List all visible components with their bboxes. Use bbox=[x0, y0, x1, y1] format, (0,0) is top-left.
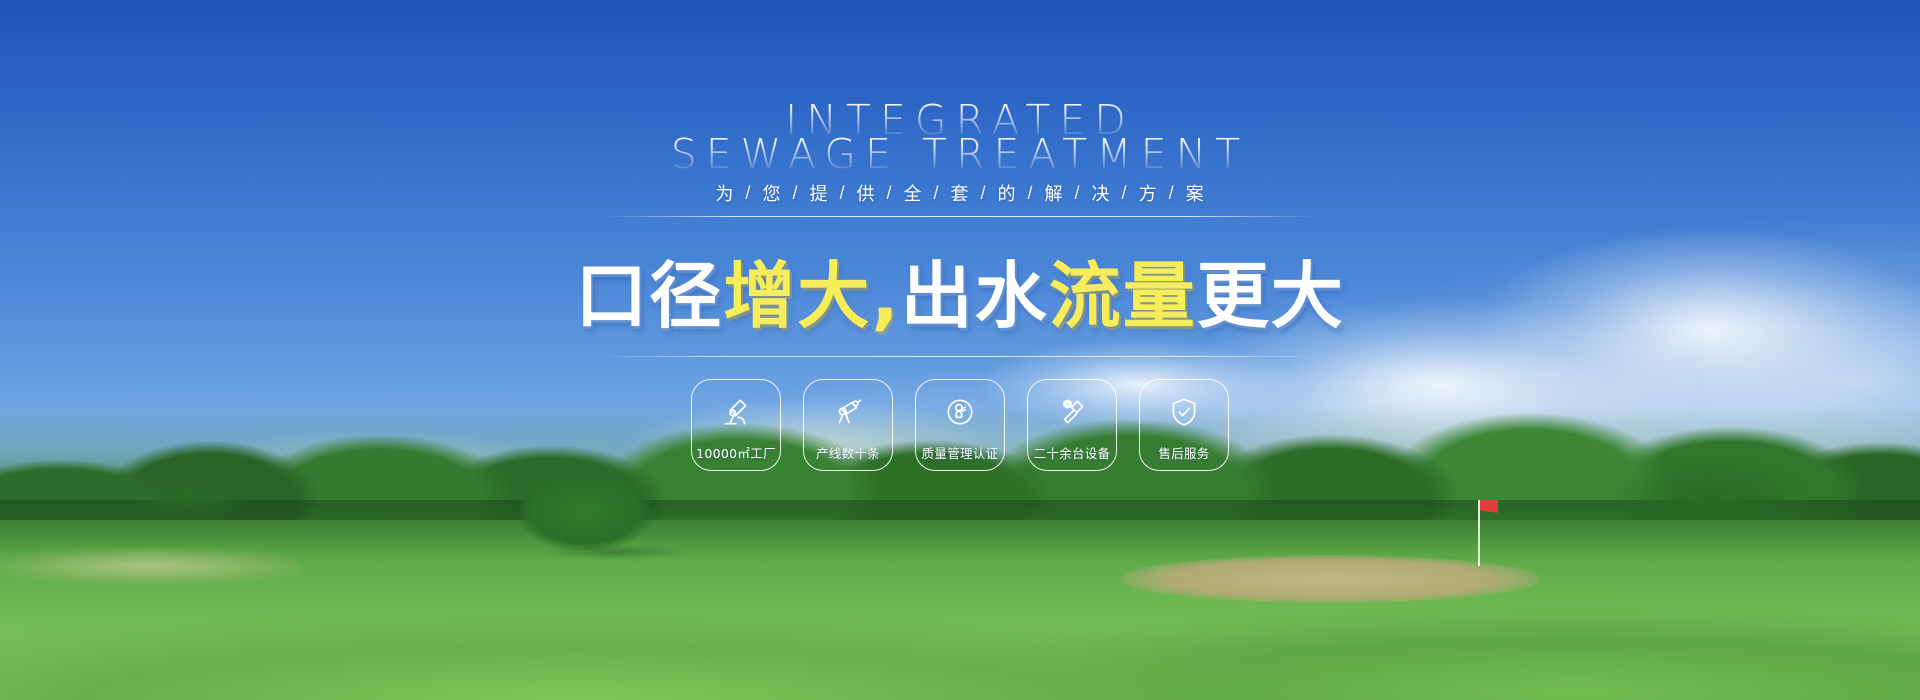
headline-segment-2: 增大 bbox=[723, 237, 871, 342]
english-headline: INTEGRATED SEWAGE TREATMENT bbox=[671, 100, 1250, 174]
bolt-wrench-icon bbox=[1054, 394, 1090, 430]
subtitle-char: 供 bbox=[845, 180, 886, 206]
subtitle-char: 解 bbox=[1034, 180, 1075, 206]
english-headline-line2: SEWAGE TREATMENT bbox=[671, 134, 1250, 174]
subtitle-char: 为 bbox=[704, 180, 745, 206]
subtitle-char: 决 bbox=[1081, 180, 1122, 206]
headline-segment-6: 更大 bbox=[1197, 237, 1345, 342]
hero-banner: INTEGRATED SEWAGE TREATMENT 为 / 您 / 提 / … bbox=[0, 0, 1920, 700]
feature-badge-factory[interactable]: 10000㎡工厂 bbox=[691, 379, 781, 471]
subtitle-char: 您 bbox=[751, 180, 792, 206]
subtitle-char: 全 bbox=[892, 180, 933, 206]
feature-badge-label: 产线数十条 bbox=[816, 443, 880, 462]
banner-content: INTEGRATED SEWAGE TREATMENT 为 / 您 / 提 / … bbox=[0, 0, 1920, 700]
headline-segment-5: 流量 bbox=[1049, 237, 1197, 342]
subtitle-char: 的 bbox=[987, 180, 1028, 206]
feature-badge-label: 10000㎡工厂 bbox=[696, 443, 776, 462]
feature-badge-quality-cert[interactable]: 质量管理认证 bbox=[915, 379, 1005, 471]
subtitle-row: 为 / 您 / 提 / 供 / 全 / 套 / 的 / 解 / 决 / 方 / … bbox=[704, 180, 1215, 206]
feature-badge-label: 二十余台设备 bbox=[1034, 443, 1111, 462]
divider-bottom bbox=[600, 356, 1320, 357]
shield-check-icon bbox=[1166, 394, 1202, 430]
subtitle-char: 套 bbox=[940, 180, 981, 206]
subtitle-char: 提 bbox=[798, 180, 839, 206]
feature-badge-after-sales[interactable]: 售后服务 bbox=[1139, 379, 1229, 471]
certificate-medal-icon bbox=[942, 394, 978, 430]
feature-badge-row: 10000㎡工厂 产线数十条 bbox=[691, 379, 1229, 471]
microscope-icon bbox=[718, 394, 754, 430]
headline-segment-3: , bbox=[871, 254, 900, 338]
feature-badge-label: 质量管理认证 bbox=[922, 443, 999, 462]
telescope-icon bbox=[830, 394, 866, 430]
feature-badge-production-lines[interactable]: 产线数十条 bbox=[803, 379, 893, 471]
subtitle-char: 案 bbox=[1175, 180, 1216, 206]
divider-top bbox=[600, 216, 1320, 217]
main-headline: 口径增大,出水流量更大 bbox=[575, 237, 1344, 342]
subtitle-char: 方 bbox=[1128, 180, 1169, 206]
headline-segment-1: 口径 bbox=[575, 237, 723, 342]
feature-badge-label: 售后服务 bbox=[1158, 443, 1209, 462]
feature-badge-equipment[interactable]: 二十余台设备 bbox=[1027, 379, 1117, 471]
headline-segment-4: 出水 bbox=[901, 237, 1049, 342]
